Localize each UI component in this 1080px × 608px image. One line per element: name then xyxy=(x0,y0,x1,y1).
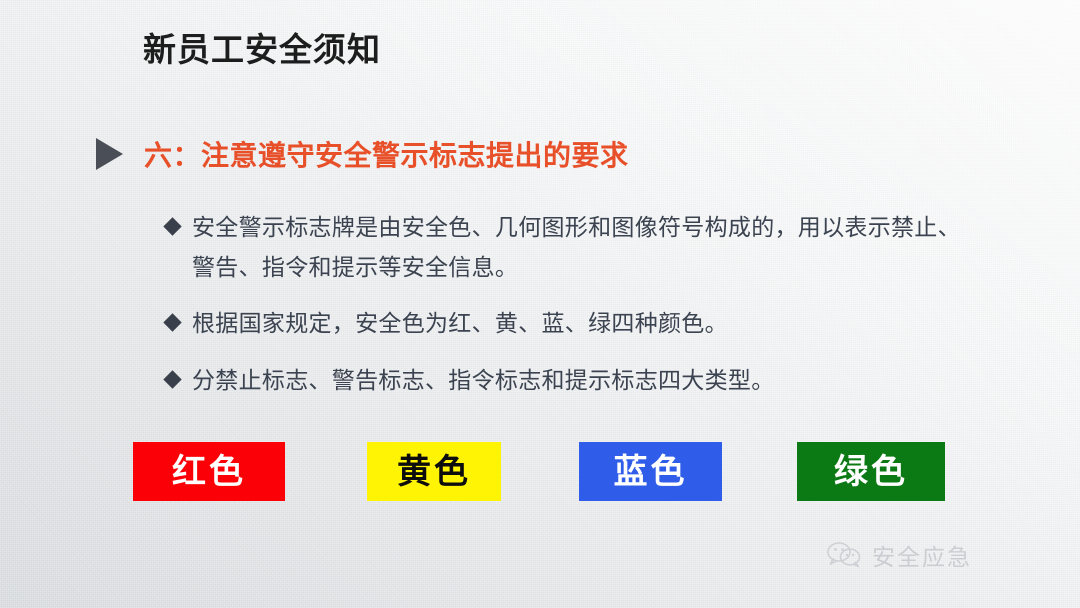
triangle-right-icon xyxy=(96,138,123,170)
bullet-list: 安全警示标志牌是由安全色、几何图形和图像符号构成的，用以表示禁止、警告、指令和提… xyxy=(166,209,976,418)
color-swatch-blue: 蓝色 xyxy=(579,442,722,501)
section-heading-row: 六：注意遵守安全警示标志提出的要求 xyxy=(96,134,629,174)
color-swatch-label: 绿色 xyxy=(834,455,908,489)
list-item: 安全警示标志牌是由安全色、几何图形和图像符号构成的，用以表示禁止、警告、指令和提… xyxy=(166,209,976,288)
color-swatch-label: 蓝色 xyxy=(614,455,688,489)
color-swatch-green: 绿色 xyxy=(797,442,945,501)
list-item-text: 根据国家规定，安全色为红、黄、蓝、绿四种颜色。 xyxy=(192,305,728,345)
page-title: 新员工安全须知 xyxy=(143,23,381,71)
list-item-text: 分禁止标志、警告标志、指令标志和提示标志四大类型。 xyxy=(192,362,775,402)
color-swatch-label: 黄色 xyxy=(397,455,471,489)
color-swatch-label: 红色 xyxy=(172,455,246,489)
wechat-icon xyxy=(827,541,861,569)
list-item: 根据国家规定，安全色为红、黄、蓝、绿四种颜色。 xyxy=(166,305,976,345)
safety-color-swatch-row: 红色 黄色 蓝色 绿色 xyxy=(133,442,945,501)
watermark-text: 安全应急 xyxy=(872,538,972,572)
color-swatch-red: 红色 xyxy=(133,442,285,501)
list-item: 分禁止标志、警告标志、指令标志和提示标志四大类型。 xyxy=(166,362,976,402)
list-item-text: 安全警示标志牌是由安全色、几何图形和图像符号构成的，用以表示禁止、警告、指令和提… xyxy=(192,209,976,288)
watermark: 安全应急 xyxy=(827,538,972,572)
diamond-bullet-icon xyxy=(163,370,181,388)
slide-canvas: 新员工安全须知 六：注意遵守安全警示标志提出的要求 安全警示标志牌是由安全色、几… xyxy=(0,0,1080,608)
diamond-bullet-icon xyxy=(163,217,181,235)
section-heading: 六：注意遵守安全警示标志提出的要求 xyxy=(144,134,629,174)
color-swatch-yellow: 黄色 xyxy=(367,442,501,501)
diamond-bullet-icon xyxy=(163,313,181,331)
